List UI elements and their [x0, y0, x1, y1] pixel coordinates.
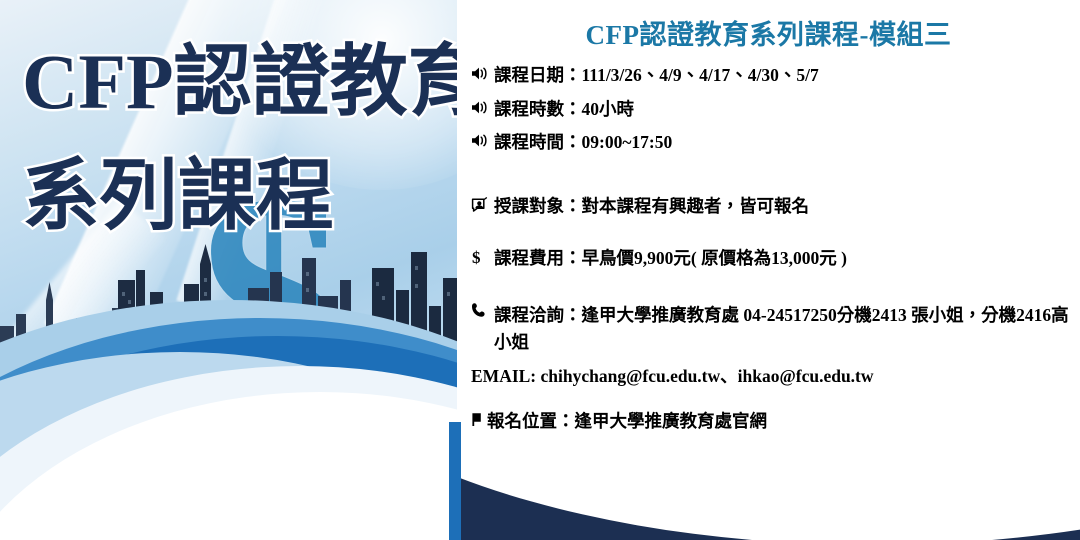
dollar-icon: $ [471, 249, 494, 269]
info-text-email: EMAIL: chihychang@fcu.edu.tw、ihkao@fcu.e… [471, 367, 1080, 387]
speaker-icon [471, 66, 494, 84]
page-title: CFP認證教育系列課程-模組三 [457, 13, 1080, 52]
detail-text-hours: 課程時數：40小時 [494, 100, 1080, 120]
telephone-icon [471, 302, 494, 321]
info-text-fee: 課程費用：早鳥價9,900元( 原價格為13,000元 ) [494, 249, 1080, 269]
speaker-icon [471, 133, 494, 151]
detail-text-time: 課程時間：09:00~17:50 [494, 133, 1080, 153]
info-row-fee: $ 課程費用：早鳥價9,900元( 原價格為13,000元 ) [471, 249, 1080, 269]
info-row-phone: 課程洽詢：逢甲大學推廣教育處 04-24517250分機2413 張小姐，分機2… [471, 302, 1080, 355]
detail-row-hours: 課程時數：40小時 [471, 100, 1080, 120]
detail-text-date: 課程日期：111/3/26、4/9、4/17、4/30、5/7 [494, 66, 1080, 86]
info-text-registration: 報名位置：逢甲大學推廣教育處官網 [487, 412, 1080, 432]
svg-text:$: $ [472, 249, 481, 266]
info-row-email: EMAIL: chihychang@fcu.edu.tw、ihkao@fcu.e… [471, 367, 1080, 387]
info-row-audience: 授課對象：對本課程有興趣者，皆可報名 [471, 197, 1080, 217]
info-text-phone: 課程洽詢：逢甲大學推廣教育處 04-24517250分機2413 張小姐，分機2… [494, 302, 1080, 355]
speaker-icon [471, 100, 494, 118]
info-text-audience: 授課對象：對本課程有興趣者，皆可報名 [494, 197, 1080, 217]
course-flyer: $ [0, 0, 1080, 540]
banner-image: $ [0, 0, 457, 540]
detail-row-date: 課程日期：111/3/26、4/9、4/17、4/30、5/7 [471, 66, 1080, 86]
detail-row-time: 課程時間：09:00~17:50 [471, 133, 1080, 153]
lecturer-icon [471, 197, 494, 216]
content-panel: CFP認證教育系列課程-模組三 課程日期：111/3/26、4/9、4/17、4… [457, 0, 1080, 540]
info-row-registration: 報名位置：逢甲大學推廣教育處官網 [471, 412, 1080, 432]
details-list: 課程日期：111/3/26、4/9、4/17、4/30、5/7 課程時數：40小… [471, 66, 1080, 432]
square-flag-icon [471, 412, 487, 430]
